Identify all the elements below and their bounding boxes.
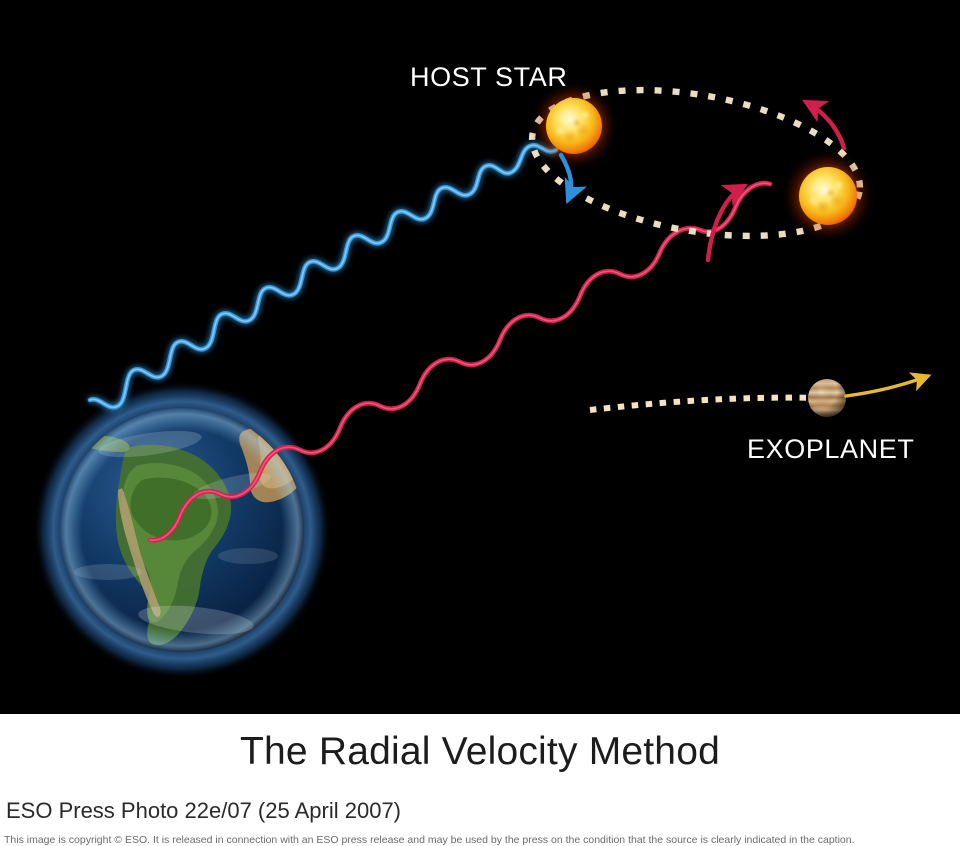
exoplanet-jupiter — [808, 379, 846, 417]
press-photo-credit: ESO Press Photo 22e/07 (25 April 2007) — [6, 798, 401, 824]
host-star-redshift-position — [782, 150, 874, 242]
earth-globe — [34, 382, 330, 678]
host-star-label: HOST STAR — [410, 62, 567, 93]
eso-press-photo: HOST STAR EXOPLANET The Radial Velocity … — [0, 0, 960, 846]
exoplanet-label: EXOPLANET — [747, 434, 914, 465]
diagram-sky-panel: HOST STAR EXOPLANET — [0, 0, 960, 714]
copyright-notice: This image is copyright © ESO. It is rel… — [4, 834, 855, 846]
earth-limb-highlight — [60, 408, 304, 652]
caption-strip: The Radial Velocity Method ESO Press Pho… — [0, 714, 960, 846]
page-title: The Radial Velocity Method — [0, 730, 960, 774]
host-star-blueshift-position — [530, 82, 618, 170]
exoplanet-shading — [808, 379, 846, 417]
radial-velocity-diagram — [0, 0, 960, 714]
